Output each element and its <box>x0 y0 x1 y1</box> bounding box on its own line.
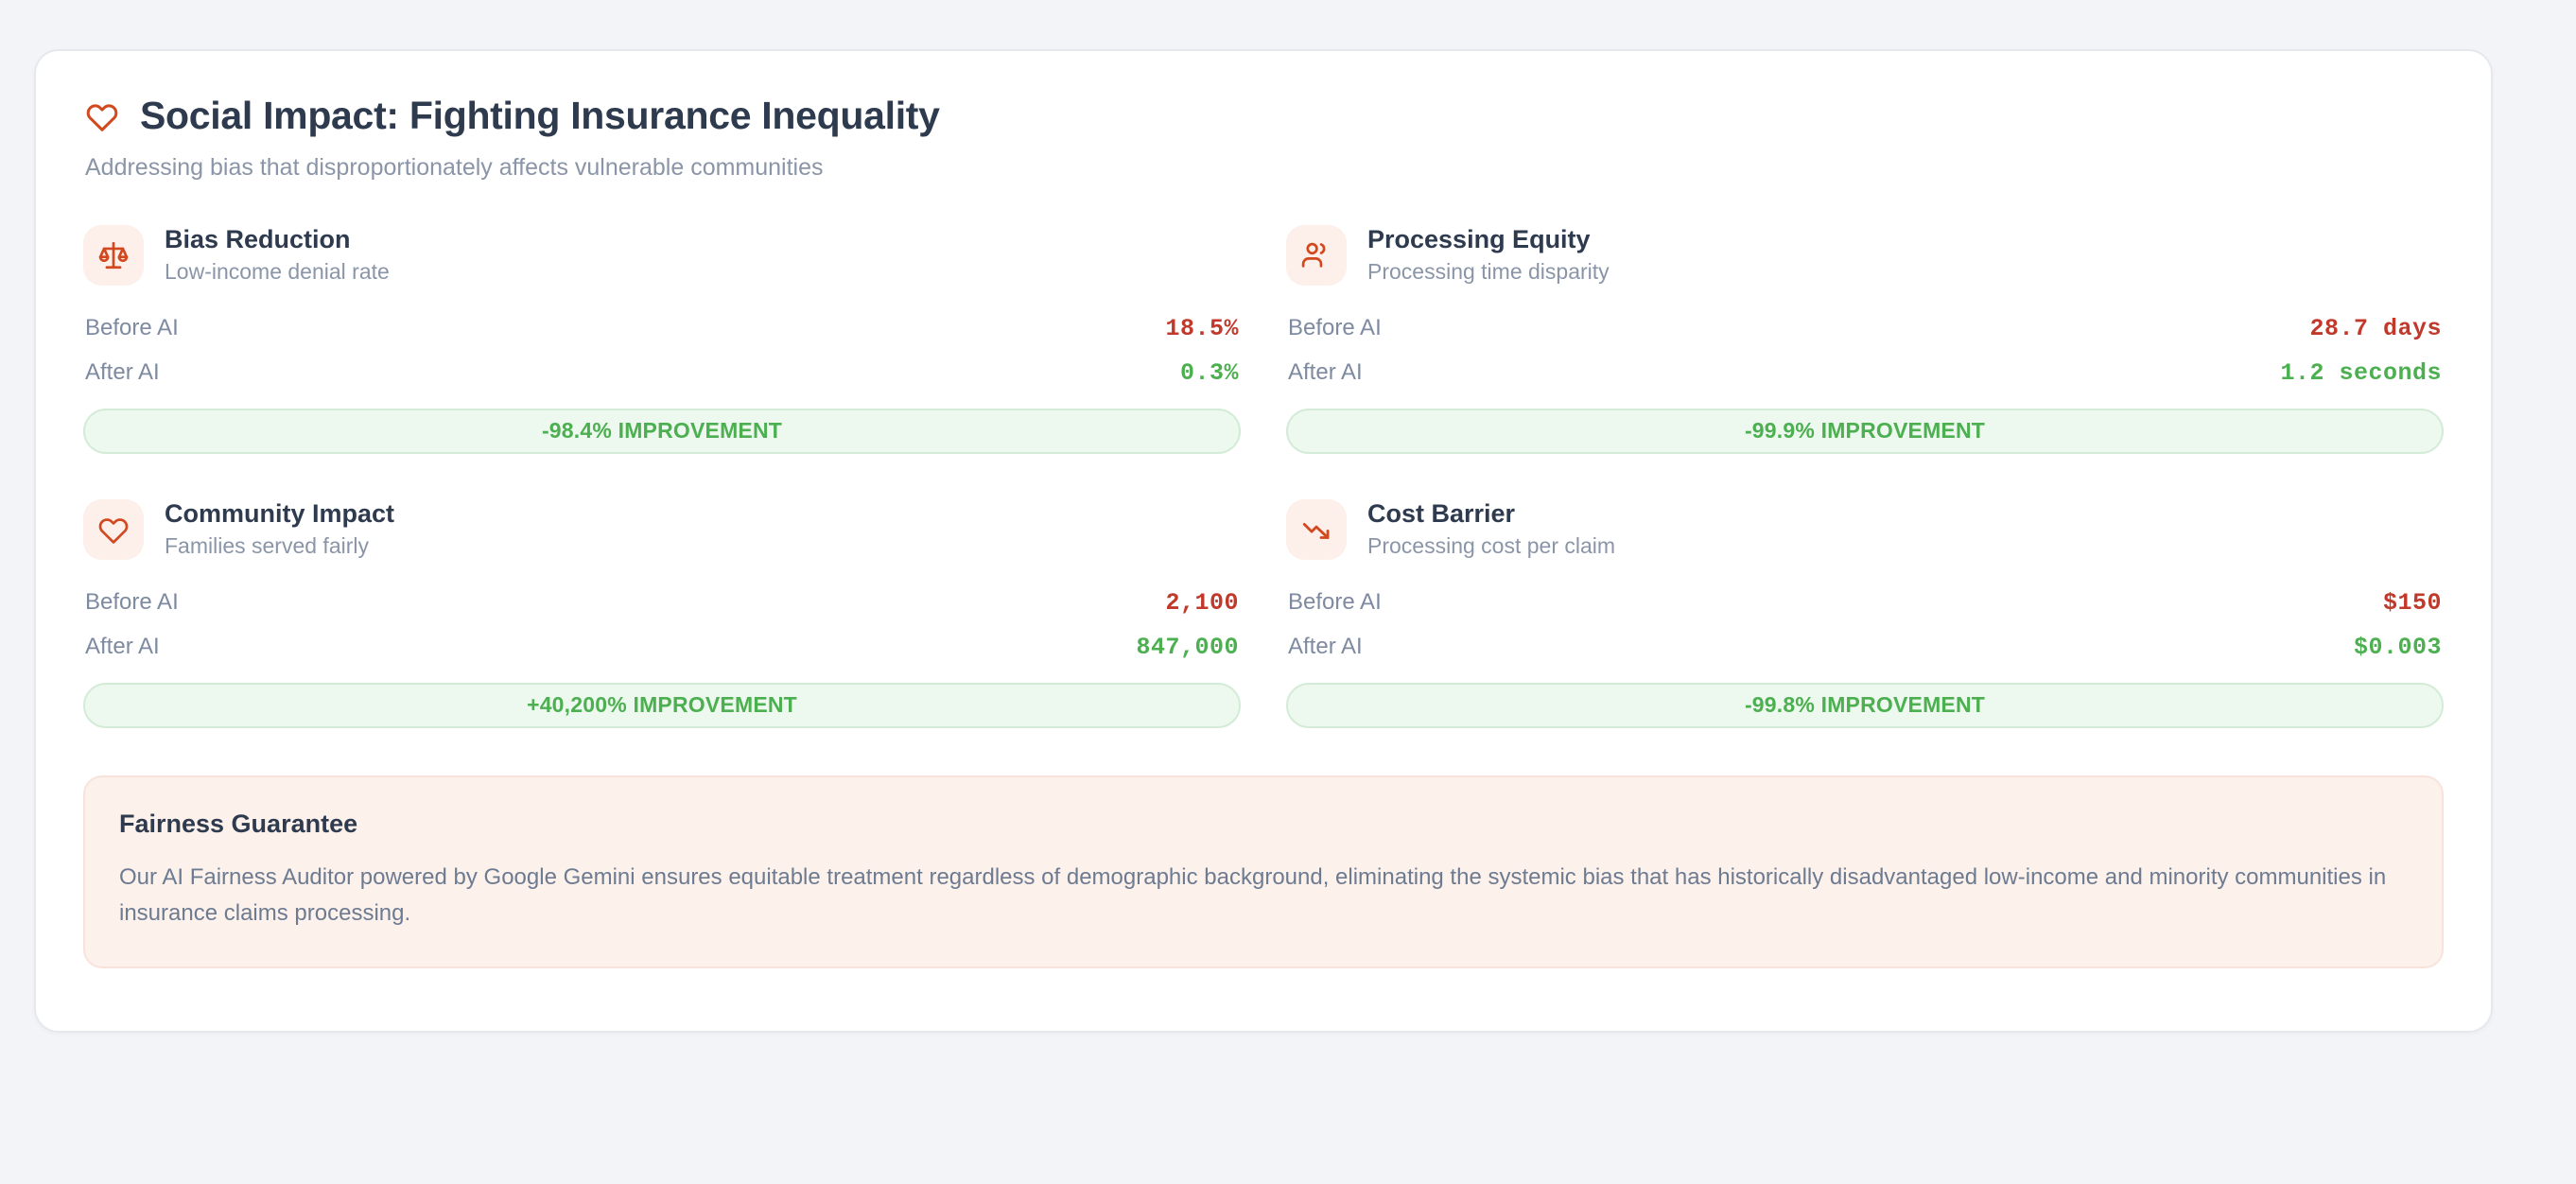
fairness-guarantee-box: Fairness Guarantee Our AI Fairness Audit… <box>83 775 2444 969</box>
stat-row-after: After AI 847,000 <box>83 629 1241 666</box>
metric-name: Processing Equity <box>1367 226 1610 252</box>
users-icon <box>1286 225 1347 286</box>
stat-label: After AI <box>85 634 160 660</box>
page-title: Social Impact: Fighting Insurance Inequa… <box>140 95 940 137</box>
metric-card-bias-reduction: Bias Reduction Low-income denial rate Be… <box>83 225 1241 454</box>
metric-titles: Community Impact Families served fairly <box>165 500 394 558</box>
stat-value-before: 28.7 days <box>2309 315 2442 342</box>
stat-value-before: $150 <box>2383 589 2442 617</box>
scales-icon <box>83 225 144 286</box>
metric-name: Community Impact <box>165 500 394 527</box>
metric-description: Low-income denial rate <box>165 260 390 284</box>
metric-card-cost-barrier: Cost Barrier Processing cost per claim B… <box>1286 499 2444 728</box>
heart-icon <box>83 97 121 135</box>
stat-row-after: After AI $0.003 <box>1286 629 2444 666</box>
metric-name: Cost Barrier <box>1367 500 1615 527</box>
heart-icon <box>83 499 144 560</box>
metric-header: Processing Equity Processing time dispar… <box>1286 225 2444 286</box>
metric-description: Processing time disparity <box>1367 260 1610 284</box>
improvement-badge: -99.8% IMPROVEMENT <box>1286 683 2444 728</box>
metric-card-processing-equity: Processing Equity Processing time dispar… <box>1286 225 2444 454</box>
metric-description: Families served fairly <box>165 534 394 558</box>
stat-row-before: Before AI 2,100 <box>83 584 1241 621</box>
improvement-badge: -99.9% IMPROVEMENT <box>1286 409 2444 454</box>
stat-label: Before AI <box>85 589 179 616</box>
stat-value-before: 18.5% <box>1165 315 1239 342</box>
stat-row-after: After AI 1.2 seconds <box>1286 355 2444 392</box>
stat-value-after: 0.3% <box>1180 359 1239 387</box>
stat-row-after: After AI 0.3% <box>83 355 1241 392</box>
metric-titles: Bias Reduction Low-income denial rate <box>165 226 390 284</box>
metric-titles: Cost Barrier Processing cost per claim <box>1367 500 1615 558</box>
stat-label: After AI <box>1288 634 1363 660</box>
fairness-guarantee-body: Our AI Fairness Auditor powered by Googl… <box>119 860 2408 933</box>
fairness-guarantee-title: Fairness Guarantee <box>119 810 2408 839</box>
panel-header: Social Impact: Fighting Insurance Inequa… <box>83 95 2444 183</box>
stat-value-after: 847,000 <box>1136 634 1239 661</box>
metric-description: Processing cost per claim <box>1367 534 1615 558</box>
stat-row-before: Before AI 18.5% <box>83 310 1241 347</box>
improvement-badge: -98.4% IMPROVEMENT <box>83 409 1241 454</box>
stat-row-before: Before AI 28.7 days <box>1286 310 2444 347</box>
metric-header: Community Impact Families served fairly <box>83 499 1241 560</box>
metric-titles: Processing Equity Processing time dispar… <box>1367 226 1610 284</box>
metric-header: Bias Reduction Low-income denial rate <box>83 225 1241 286</box>
stat-label: Before AI <box>85 315 179 341</box>
title-row: Social Impact: Fighting Insurance Inequa… <box>83 95 2444 137</box>
stat-value-after: 1.2 seconds <box>2280 359 2442 387</box>
metric-grid: Bias Reduction Low-income denial rate Be… <box>83 225 2444 728</box>
stat-value-before: 2,100 <box>1165 589 1239 617</box>
metric-card-community-impact: Community Impact Families served fairly … <box>83 499 1241 728</box>
metric-name: Bias Reduction <box>165 226 390 252</box>
page-root: Social Impact: Fighting Insurance Inequa… <box>0 0 2576 1184</box>
page-subtitle: Addressing bias that disproportionately … <box>85 152 2444 183</box>
stat-label: After AI <box>85 359 160 386</box>
stat-value-after: $0.003 <box>2354 634 2442 661</box>
improvement-badge: +40,200% IMPROVEMENT <box>83 683 1241 728</box>
stat-row-before: Before AI $150 <box>1286 584 2444 621</box>
trending-down-icon <box>1286 499 1347 560</box>
stat-label: Before AI <box>1288 589 1382 616</box>
social-impact-panel: Social Impact: Fighting Insurance Inequa… <box>34 49 2493 1033</box>
metric-header: Cost Barrier Processing cost per claim <box>1286 499 2444 560</box>
stat-label: Before AI <box>1288 315 1382 341</box>
stat-label: After AI <box>1288 359 1363 386</box>
